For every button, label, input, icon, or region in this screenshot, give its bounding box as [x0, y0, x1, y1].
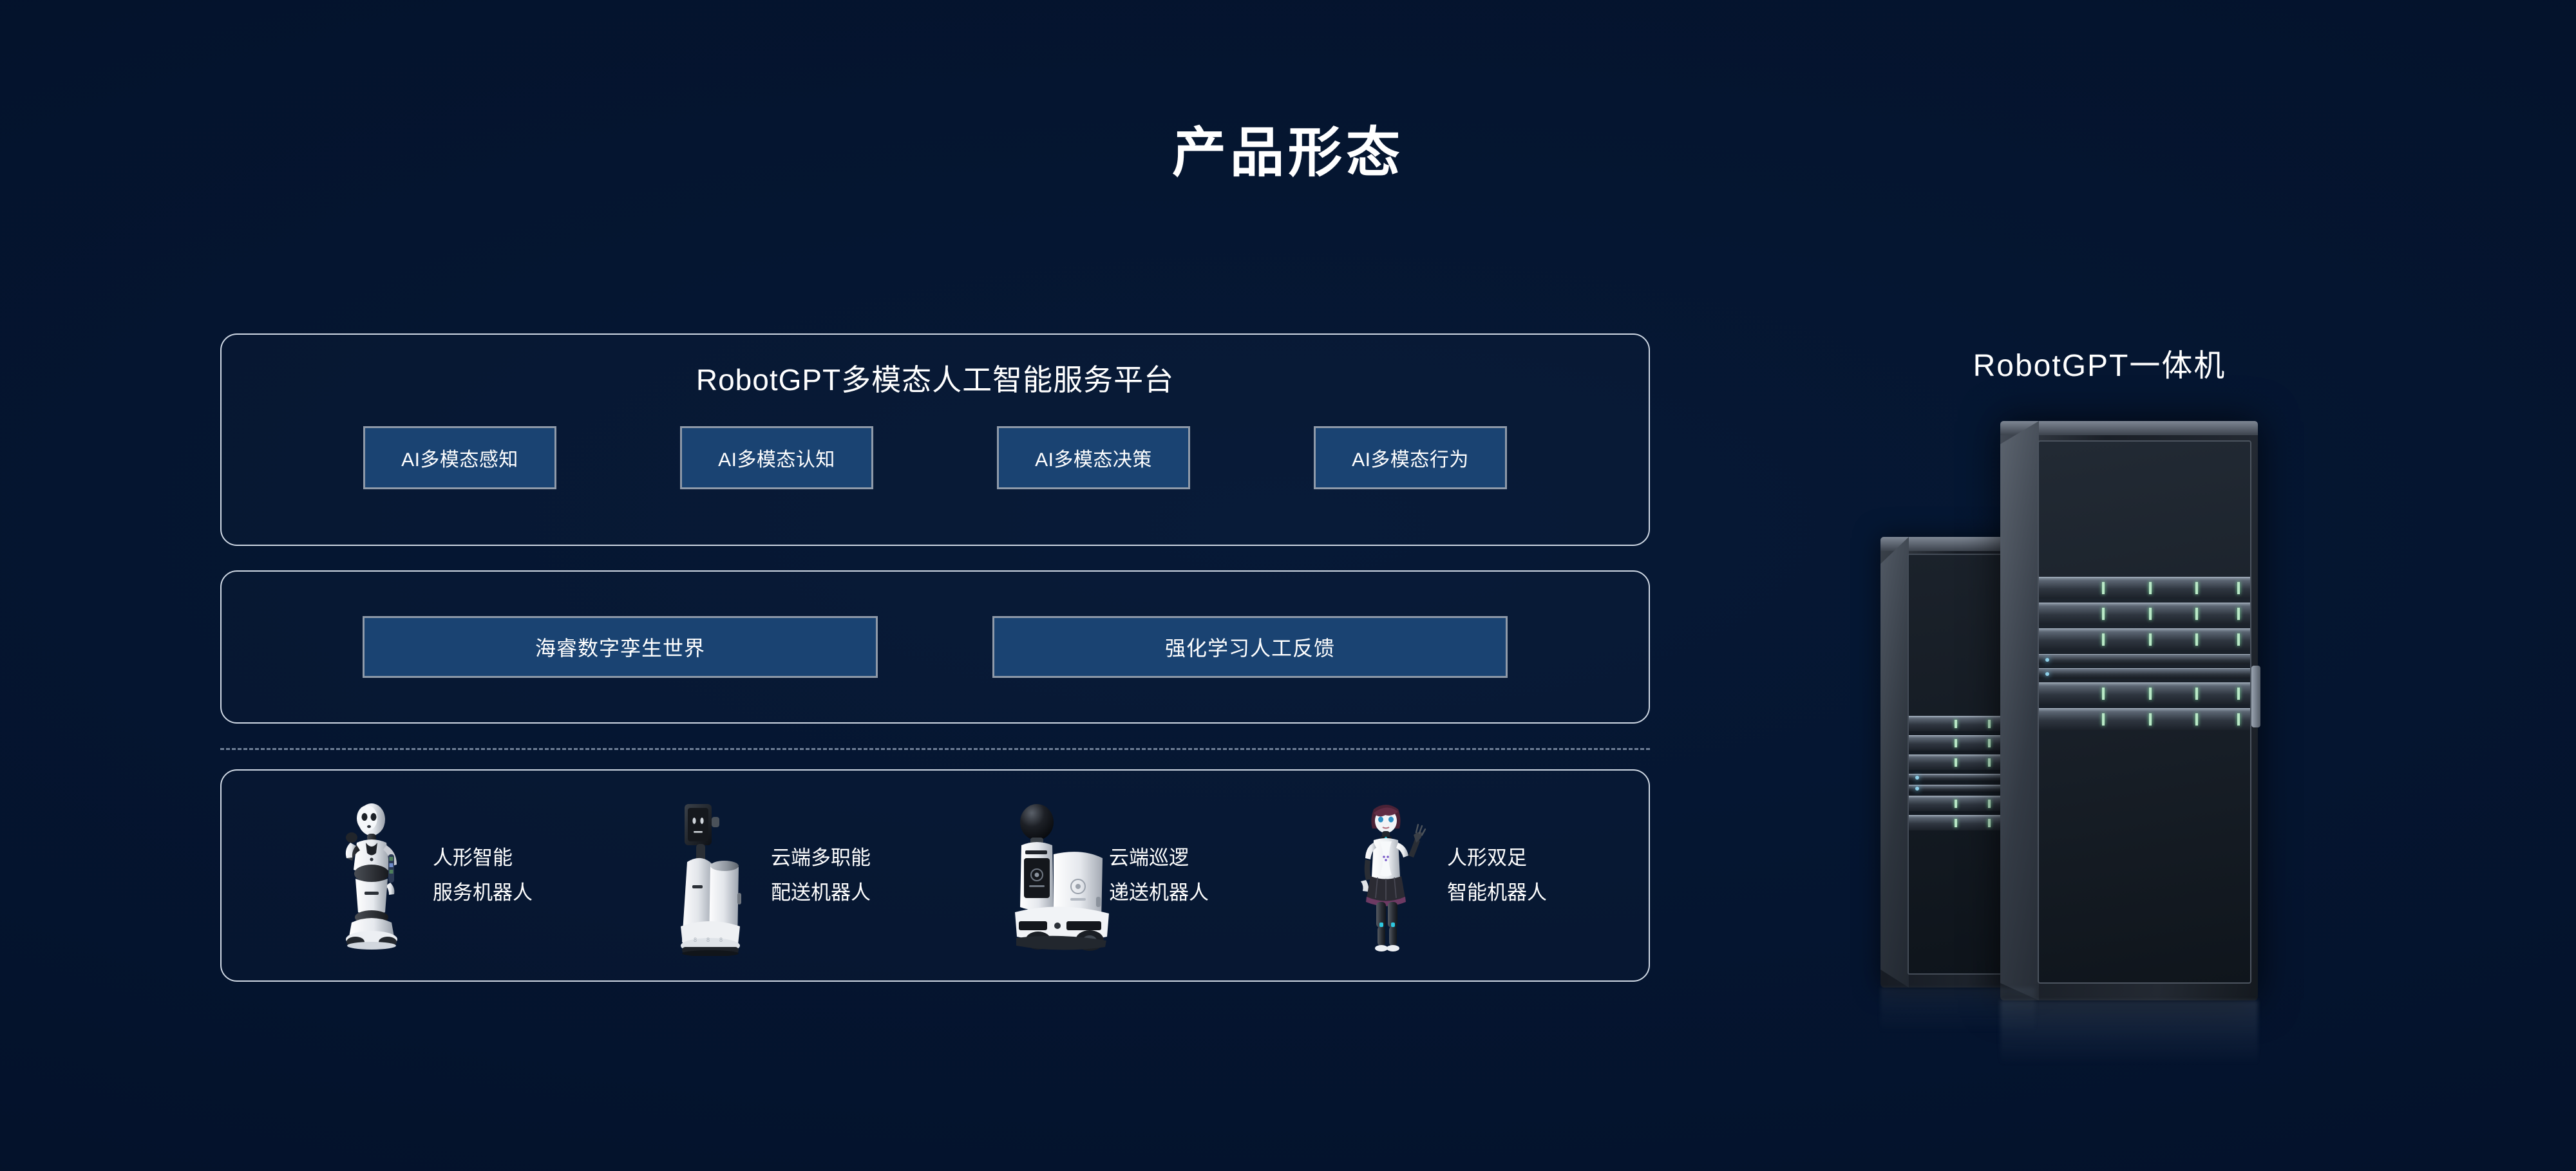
platform-title: RobotGPT多模态人工智能服务平台: [222, 357, 1649, 399]
robot-item-humanoid-biped[interactable]: 人形双足 智能机器人: [1338, 795, 1547, 956]
robot-label-humanoid-service: 人形智能 服务机器人: [433, 841, 533, 911]
robot-label-cloud-delivery: 云端多职能 配送机器人: [771, 841, 871, 911]
platform-stack: RobotGPT多模态人工智能服务平台 AI多模态感知 AI多模态认知 AI多模…: [220, 333, 1650, 982]
svg-text:8: 8: [694, 937, 697, 943]
capability-chip-perception[interactable]: AI多模态感知: [363, 426, 556, 489]
blade-led: [2237, 713, 2240, 726]
rack-top-panel: [2000, 421, 2258, 435]
cloud-patrol-robot-icon: [999, 795, 1096, 956]
blade-led: [2149, 713, 2152, 726]
blade-led: [2102, 633, 2105, 646]
blade-led: [2102, 688, 2105, 700]
blade-led: [1955, 758, 1957, 767]
robot-item-cloud-delivery[interactable]: 8 8 8 云端多职能 配送机器人: [661, 795, 871, 956]
svg-text:8: 8: [706, 937, 710, 943]
rack-blade: [2039, 668, 2250, 679]
humanoid-biped-robot-icon: [1338, 795, 1434, 956]
rack-blade: [2039, 654, 2250, 664]
cloud-delivery-robot-icon: 8 8 8: [661, 795, 758, 956]
capability-chip-row: AI多模态感知 AI多模态认知 AI多模态决策 AI多模态行为: [222, 426, 1649, 489]
blade-led: [1988, 800, 1991, 809]
capability-chip-decision[interactable]: AI多模态决策: [997, 426, 1190, 489]
blade-led: [2149, 633, 2152, 646]
robot-label-line2: 服务机器人: [433, 876, 533, 910]
blade-status-dot: [1915, 776, 1919, 780]
section-divider: [220, 748, 1650, 750]
robot-label-cloud-patrol: 云端巡逻 递送机器人: [1109, 841, 1209, 911]
engine-bar-rlhf[interactable]: 强化学习人工反馈: [992, 616, 1508, 678]
humanoid-service-robot-icon: [323, 795, 420, 956]
blade-led: [2195, 688, 2198, 700]
blade-led: [2237, 633, 2240, 646]
blade-led: [2195, 608, 2198, 621]
blade-led: [1988, 758, 1991, 767]
robot-label-line1: 云端多职能: [771, 841, 871, 876]
blade-led: [2149, 582, 2152, 595]
blade-led: [1988, 819, 1991, 828]
blade-led: [1988, 739, 1991, 748]
rack-side-panel: [1880, 537, 1909, 988]
blade-led: [2237, 608, 2240, 621]
blade-led: [2102, 582, 2105, 595]
rack-blade: [2039, 577, 2250, 599]
blade-led: [2195, 713, 2198, 726]
server-rack-primary: [2000, 421, 2258, 1000]
appliance-title: RobotGPT一体机: [1855, 340, 2344, 385]
robot-label-line1: 人形智能: [433, 841, 533, 876]
robot-panel: 人形智能 服务机器人: [220, 769, 1650, 982]
blade-led: [2102, 713, 2105, 726]
rack-blade: [2039, 628, 2250, 650]
rack-blade: [2039, 682, 2250, 704]
rack-side-panel: [2000, 421, 2039, 1000]
blade-led: [1988, 720, 1991, 729]
blade-led: [2102, 608, 2105, 621]
blade-led: [1955, 720, 1957, 729]
blade-led: [1955, 800, 1957, 809]
robot-label-humanoid-biped: 人形双足 智能机器人: [1447, 841, 1547, 911]
robot-label-line2: 递送机器人: [1109, 876, 1209, 910]
robot-label-line1: 云端巡逻: [1109, 841, 1209, 876]
rack-bezel: [2038, 440, 2251, 984]
engine-bar-digital-twin[interactable]: 海睿数字孪生世界: [363, 616, 878, 678]
blade-led: [2195, 582, 2198, 595]
server-rack-icon: [1874, 416, 2325, 1021]
robot-label-line2: 智能机器人: [1447, 876, 1547, 910]
rack-reflection-primary: [2000, 1000, 2258, 1065]
rack-door-handle[interactable]: [2251, 666, 2260, 727]
blade-led: [1955, 819, 1957, 828]
capability-chip-cognition[interactable]: AI多模态认知: [680, 426, 873, 489]
rack-blade: [2039, 603, 2250, 624]
rack-blade-stack: [2039, 577, 2250, 730]
slide-root: 产品形态 RobotGPT多模态人工智能服务平台 AI多模态感知 AI多模态认知…: [0, 0, 2576, 1171]
capability-chip-behavior[interactable]: AI多模态行为: [1314, 426, 1507, 489]
engine-panel: 海睿数字孪生世界 强化学习人工反馈: [220, 570, 1650, 724]
blade-status-dot: [1915, 787, 1919, 791]
svg-text:8: 8: [719, 937, 723, 943]
blade-led: [2237, 688, 2240, 700]
robot-label-line2: 配送机器人: [771, 876, 871, 910]
blade-led: [1955, 739, 1957, 748]
blade-status-dot: [2045, 658, 2049, 662]
blade-led: [2149, 608, 2152, 621]
rack-blade: [2039, 708, 2250, 730]
page-title: 产品形态: [0, 109, 2576, 187]
robot-item-humanoid-service[interactable]: 人形智能 服务机器人: [323, 795, 533, 956]
blade-status-dot: [2045, 672, 2049, 676]
blade-led: [2149, 688, 2152, 700]
robot-item-cloud-patrol[interactable]: 云端巡逻 递送机器人: [999, 795, 1209, 956]
blade-led: [2237, 582, 2240, 595]
platform-panel: RobotGPT多模态人工智能服务平台 AI多模态感知 AI多模态认知 AI多模…: [220, 333, 1650, 546]
appliance-section: RobotGPT一体机: [1855, 340, 2344, 1021]
blade-led: [2195, 633, 2198, 646]
robot-label-line1: 人形双足: [1447, 841, 1547, 876]
